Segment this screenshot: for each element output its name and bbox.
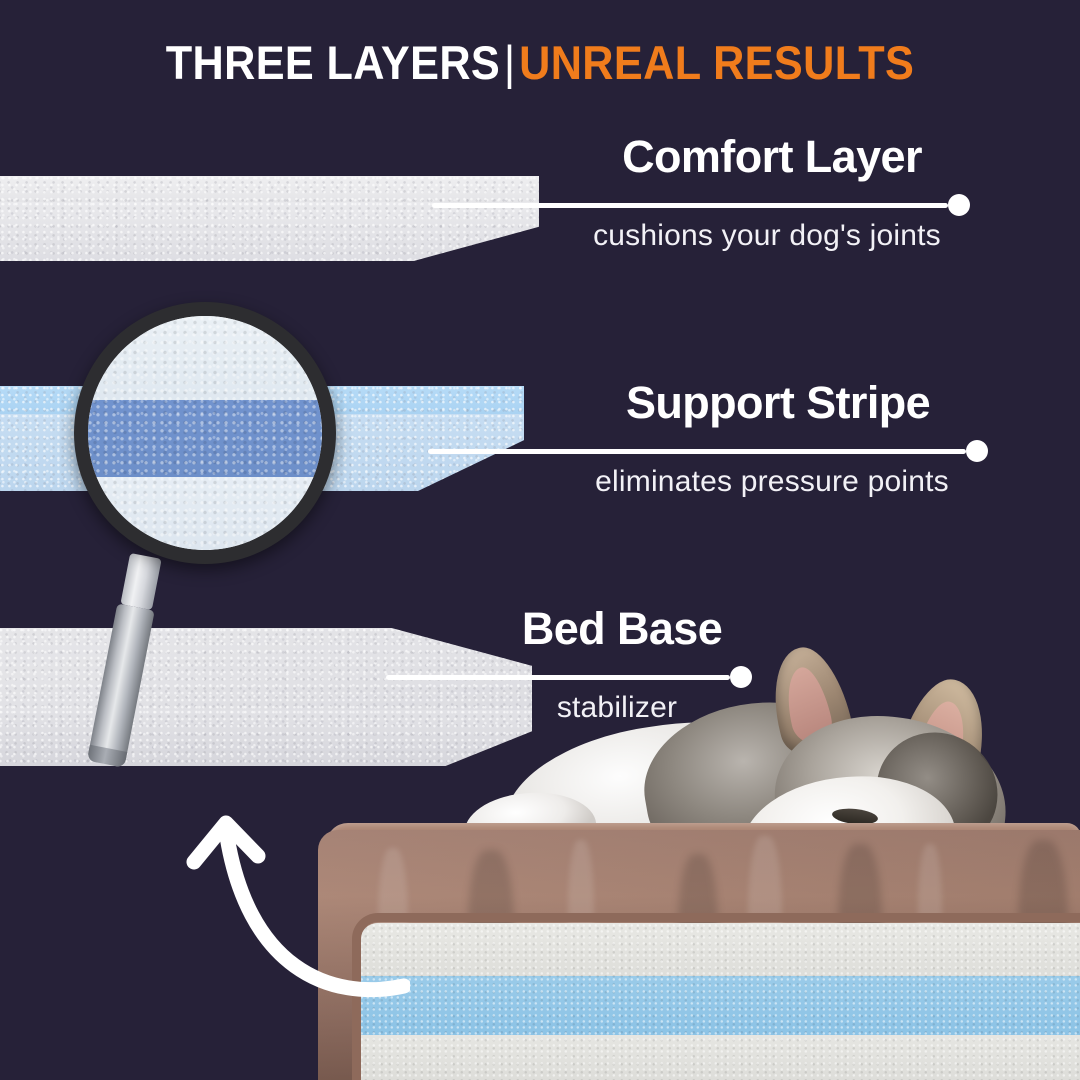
callout-subheading: cushions your dog's joints bbox=[542, 218, 992, 254]
curved-arrow-icon bbox=[180, 790, 410, 1035]
callout-heading: Comfort Layer bbox=[552, 132, 992, 182]
magnifier-icon bbox=[74, 302, 336, 564]
callout-heading: Support Stripe bbox=[548, 378, 1008, 428]
page-title-part-1: THREE LAYERS bbox=[166, 36, 500, 89]
callout-subheading: eliminates pressure points bbox=[536, 464, 1008, 500]
page-title-part-2: UNREAL RESULTS bbox=[519, 36, 914, 89]
foam-texture bbox=[360, 923, 1080, 1080]
page-title: THREE LAYERS|UNREAL RESULTS bbox=[43, 34, 1037, 92]
magnifier-glass bbox=[88, 316, 322, 550]
infographic-canvas: THREE LAYERS|UNREAL RESULTS Comfort Laye… bbox=[0, 0, 1080, 1080]
leader-line bbox=[428, 449, 966, 454]
callout-heading: Bed Base bbox=[458, 604, 786, 654]
leader-line-support bbox=[428, 440, 988, 462]
leader-line bbox=[432, 203, 948, 208]
leader-line-comfort bbox=[432, 194, 970, 216]
callout-comfort-layer: Comfort Layer cushions your dog's joints bbox=[432, 132, 992, 254]
bed-foam-stripe-panel bbox=[360, 923, 1080, 1080]
leader-dot-icon bbox=[948, 194, 970, 216]
dog-on-bed-photo bbox=[318, 655, 1080, 1080]
leader-dot-icon bbox=[966, 440, 988, 462]
page-title-divider: | bbox=[500, 36, 519, 89]
callout-support-stripe: Support Stripe eliminates pressure point… bbox=[428, 378, 1008, 500]
foam-texture bbox=[88, 316, 322, 550]
